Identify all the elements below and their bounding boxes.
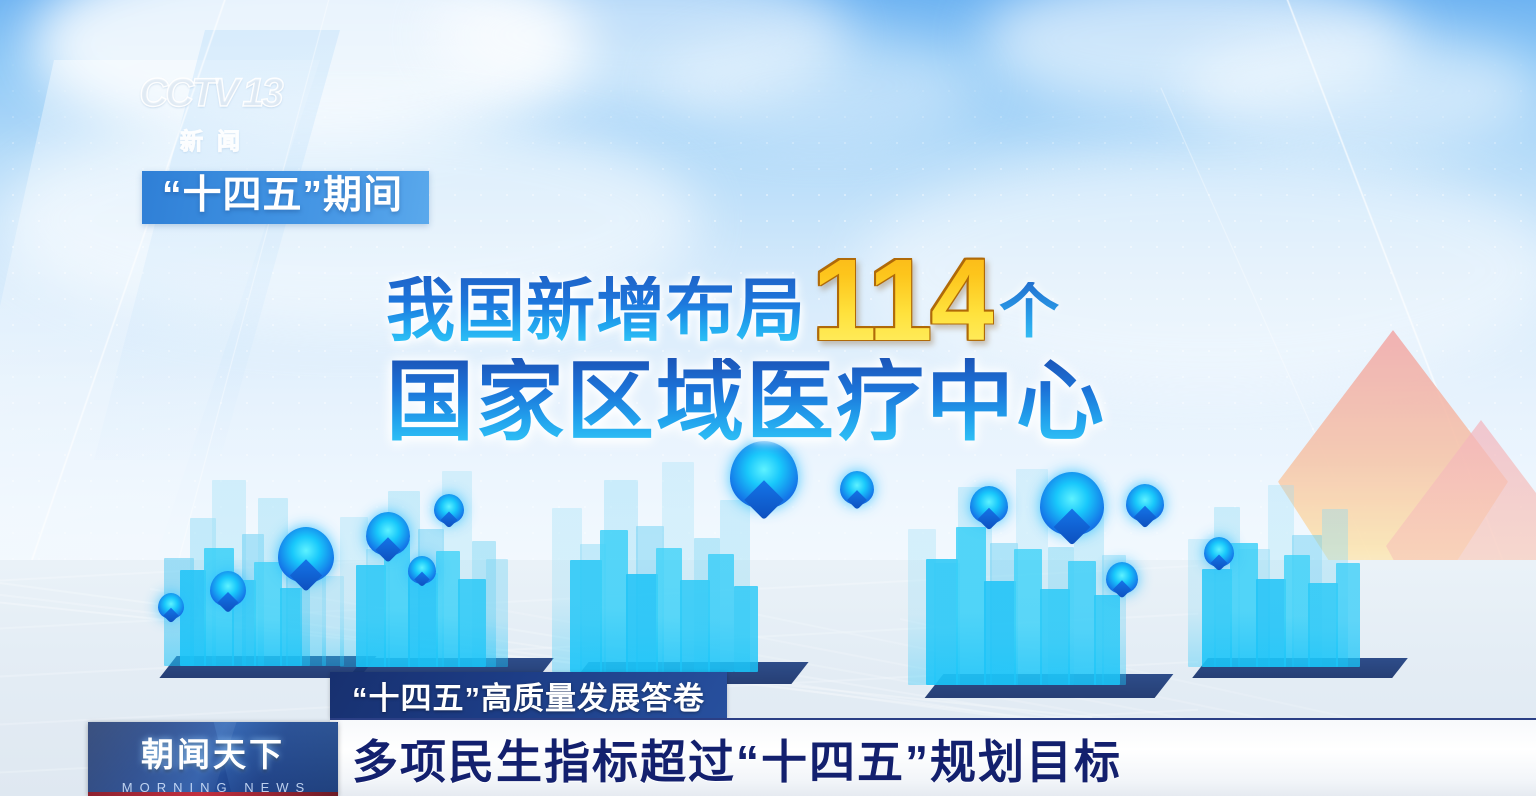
cctv-logo-row: CCTV 13 — [112, 66, 308, 120]
location-pin-icon — [1040, 472, 1104, 555]
building — [734, 586, 758, 672]
building — [1014, 549, 1042, 685]
building — [956, 527, 986, 685]
location-pin-icon — [158, 593, 184, 627]
cloud-decoration — [430, 0, 850, 110]
cctv-wordmark: CCTV — [139, 71, 236, 116]
lower-third-headline-text: 多项民生指标超过“十四五”规划目标 — [352, 726, 1122, 792]
city-cluster — [540, 429, 880, 684]
headline-line-1: 我国新增布局 114 个 — [386, 236, 1126, 352]
building — [626, 574, 658, 672]
city-cluster — [1180, 453, 1470, 678]
building — [1284, 555, 1310, 667]
location-pin-icon — [434, 494, 464, 533]
building — [680, 580, 710, 672]
period-badge-label: “十四五”期间 — [162, 174, 403, 217]
headline-unit: 个 — [999, 282, 1059, 342]
building — [1202, 569, 1232, 667]
headline-line-2: 国家区域医疗中心 — [386, 358, 1126, 446]
building — [570, 560, 602, 672]
headline-prefix: 我国新增布局 — [386, 276, 806, 345]
program-logo-accent-line — [88, 792, 338, 796]
cloud-decoration — [30, 0, 590, 150]
building — [486, 559, 508, 667]
location-pin-icon — [408, 556, 436, 592]
location-pin-icon — [210, 571, 246, 618]
location-pin-icon — [970, 486, 1008, 535]
building — [436, 551, 460, 667]
building — [600, 530, 628, 672]
building — [1230, 543, 1258, 667]
location-pin-icon — [1204, 537, 1234, 576]
building — [656, 548, 682, 672]
location-pin-icon — [730, 441, 798, 529]
location-pin-icon — [366, 512, 410, 569]
building — [1308, 583, 1338, 667]
cloud-decoration — [980, 0, 1410, 110]
headline-subject: 国家区域医疗中心 — [386, 358, 1106, 446]
cloud-decoration — [660, 30, 980, 140]
building — [1336, 563, 1360, 667]
cctv-channel-number: 13 — [242, 71, 281, 116]
building — [1068, 561, 1096, 685]
program-name-cn: 朝闻天下 — [88, 728, 338, 776]
location-pin-icon — [1126, 484, 1164, 533]
building — [708, 554, 734, 672]
cctv-logo-subtitle: 新闻 — [112, 122, 308, 156]
cloud-decoration — [1180, 30, 1536, 150]
location-pin-icon — [840, 471, 874, 515]
building — [984, 581, 1016, 685]
location-pin-icon — [1106, 562, 1138, 604]
cctv-channel-logo: CCTV 13 新闻 — [112, 66, 308, 166]
period-badge: “十四五”期间 — [142, 171, 429, 224]
building — [1256, 579, 1286, 667]
program-logo: 朝闻天下 MORNING NEWS MORNING NEWS — [88, 722, 338, 796]
lower-third-topic-label: “十四五”高质量发展答卷 — [352, 673, 705, 718]
building — [1094, 595, 1120, 685]
building — [926, 559, 958, 685]
location-pin-icon — [278, 527, 334, 600]
headline-block: 我国新增布局 114 个 国家区域医疗中心 — [386, 236, 1126, 446]
broadcast-screen: CCTV 13 新闻 “十四五”期间 我国新增布局 114 个 国家区域医疗中心… — [0, 0, 1536, 796]
lower-third-topic-bar: “十四五”高质量发展答卷 — [330, 672, 727, 718]
building — [356, 565, 386, 667]
lower-third-headline-bar: 多项民生指标超过“十四五”规划目标 — [330, 718, 1536, 796]
light-wedge-decoration — [40, 30, 340, 460]
building — [1040, 589, 1070, 685]
headline-number: 114 — [812, 242, 993, 358]
building — [458, 579, 486, 667]
